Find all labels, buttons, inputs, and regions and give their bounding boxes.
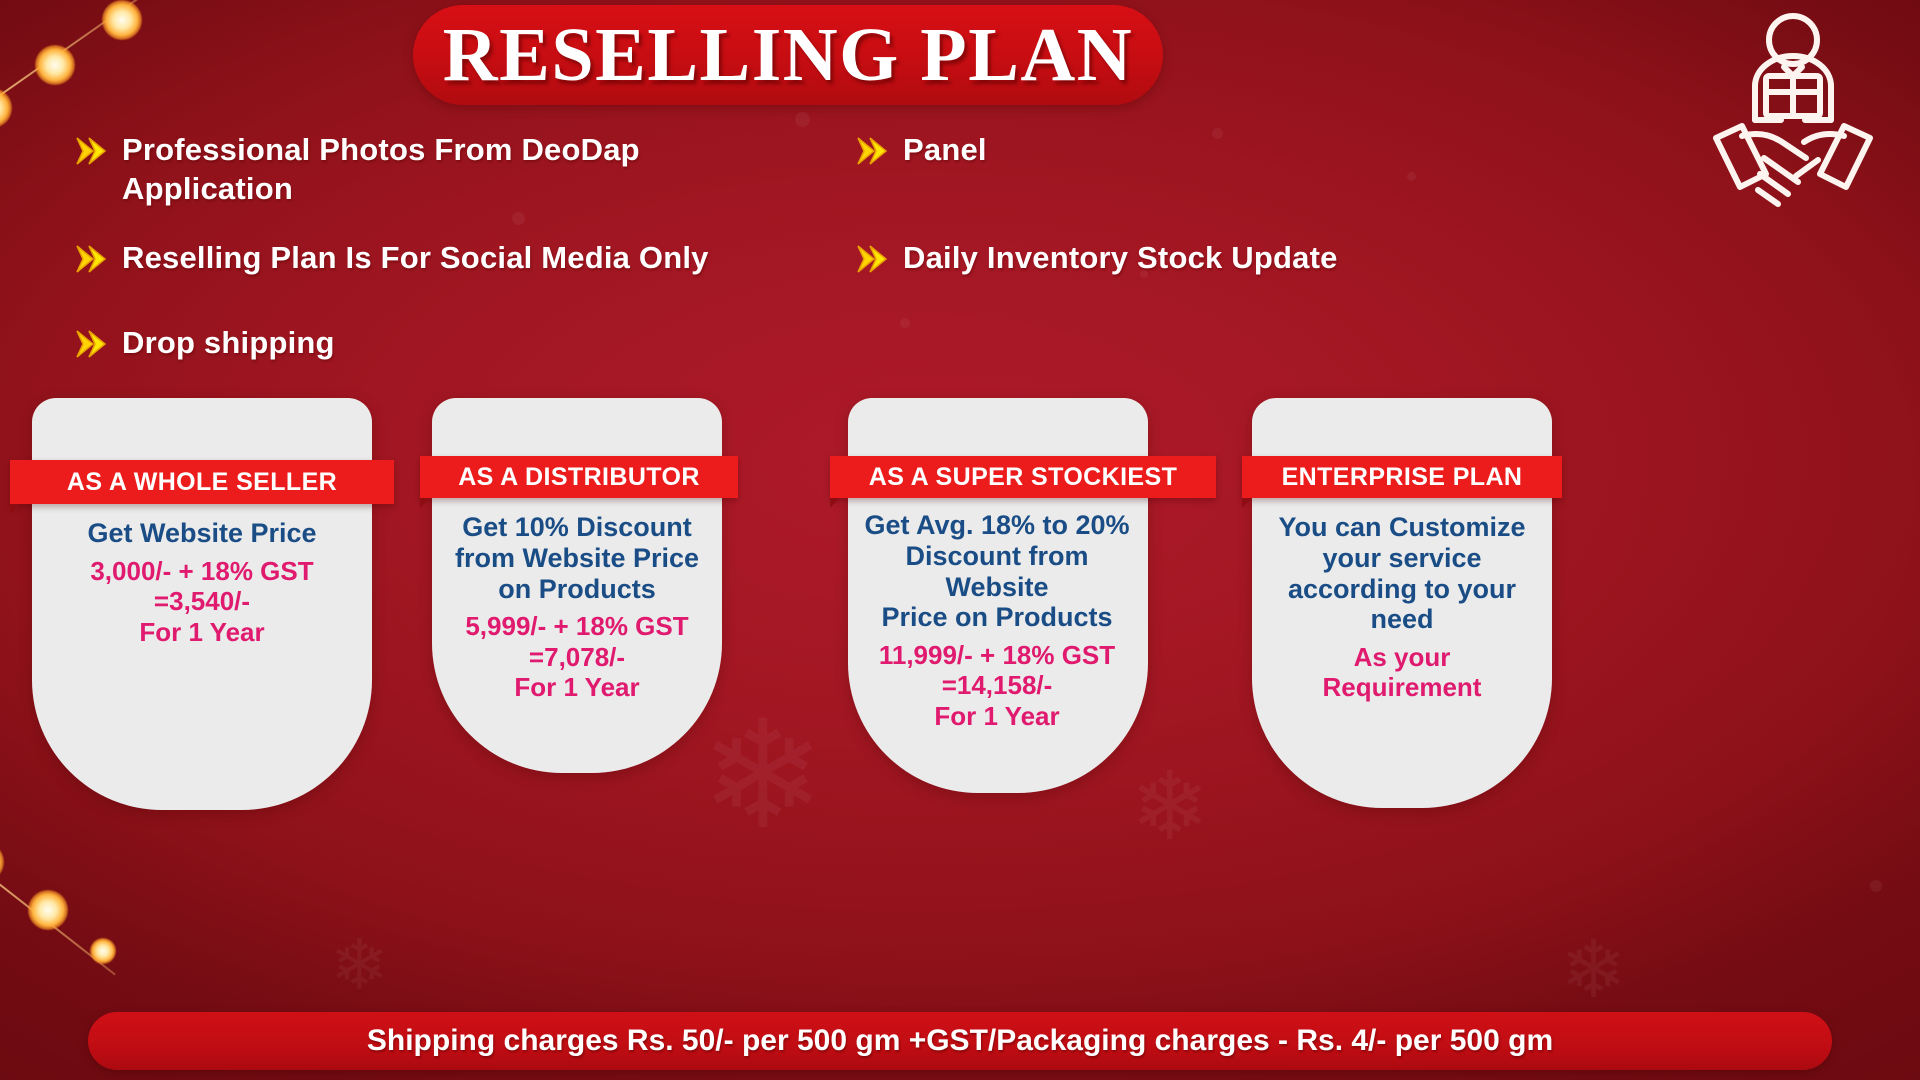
card-price-line: =7,078/- (432, 642, 722, 672)
card-heading-line: need (1252, 604, 1552, 635)
card-heading-line: Website (832, 572, 1162, 603)
card-heading-line: Get 10% Discount (432, 512, 722, 543)
card-content: You can Customize your service according… (1252, 512, 1552, 703)
bokeh-dot (900, 318, 910, 328)
card-price-line: 3,000/- + 18% GST (32, 556, 372, 586)
card-content: Get Website Price 3,000/- + 18% GST =3,5… (32, 518, 372, 647)
card-price-line: As your (1252, 642, 1552, 672)
card-price-line: For 1 Year (32, 617, 372, 647)
footer-text: Shipping charges Rs. 50/- per 500 gm +GS… (367, 1024, 1553, 1058)
card-heading-line: Discount from (832, 541, 1162, 572)
chevron-bullet-icon (74, 134, 108, 173)
card-ribbon: ENTERPRISE PLAN (1242, 456, 1562, 498)
card-content: Get Avg. 18% to 20% Discount from Websit… (832, 510, 1162, 731)
card-ribbon: AS A WHOLE SELLER (10, 460, 394, 504)
card-ribbon-label: ENTERPRISE PLAN (1282, 463, 1523, 492)
card-heading-line: on Products (432, 574, 722, 605)
card-ribbon-label: AS A SUPER STOCKIEST (869, 463, 1178, 492)
card-price-line: =14,158/- (832, 670, 1162, 700)
bokeh-dot (1212, 128, 1223, 139)
card-price-line: For 1 Year (832, 701, 1162, 731)
card-price-line: =3,540/- (32, 586, 372, 616)
feature-label: Daily Inventory Stock Update (903, 238, 1338, 277)
card-ribbon-label: AS A WHOLE SELLER (67, 468, 337, 497)
snowflake-icon: ❄ (330, 930, 389, 1000)
card-ribbon: AS A DISTRIBUTOR (420, 456, 738, 498)
chevron-bullet-icon (855, 242, 889, 281)
card-heading-line: your service (1252, 543, 1552, 574)
feature-label: Panel (903, 130, 987, 169)
card-price-line: For 1 Year (432, 672, 722, 702)
card-heading-line: Get Website Price (32, 518, 372, 549)
feature-item: Drop shipping (74, 323, 494, 366)
card-heading-line: from Website Price (432, 543, 722, 574)
footer-banner: Shipping charges Rs. 50/- per 500 gm +GS… (88, 1012, 1832, 1070)
feature-label: Drop shipping (122, 323, 335, 362)
card-price-line: 5,999/- + 18% GST (432, 611, 722, 641)
feature-label: Reselling Plan Is For Social Media Only (122, 238, 709, 277)
chevron-bullet-icon (74, 242, 108, 281)
feature-item: Panel (855, 130, 1155, 173)
feature-item: Professional Photos From DeoDap Applicat… (74, 130, 774, 208)
chevron-bullet-icon (855, 134, 889, 173)
card-heading-line: according to your (1252, 574, 1552, 605)
bokeh-dot (795, 112, 810, 127)
card-heading-line: You can Customize (1252, 512, 1552, 543)
card-ribbon-label: AS A DISTRIBUTOR (458, 463, 700, 492)
page-title: RESELLING PLAN (443, 12, 1133, 99)
bokeh-dot (1870, 880, 1882, 892)
page-title-banner: RESELLING PLAN (413, 5, 1163, 105)
bokeh-dot (1407, 172, 1416, 181)
feature-label: Professional Photos From DeoDap Applicat… (122, 130, 774, 208)
chevron-bullet-icon (74, 327, 108, 366)
card-price-line: Requirement (1252, 672, 1552, 702)
card-heading-line: Get Avg. 18% to 20% (832, 510, 1162, 541)
handshake-partnership-icon (1708, 8, 1878, 208)
snowflake-icon: ❄ (1560, 930, 1627, 1010)
card-price-line: 11,999/- + 18% GST (832, 640, 1162, 670)
bokeh-dot (512, 212, 525, 225)
feature-item: Daily Inventory Stock Update (855, 238, 1495, 281)
plan-cards: AS A WHOLE SELLER Get Website Price 3,00… (0, 398, 1920, 818)
card-ribbon: AS A SUPER STOCKIEST (830, 456, 1216, 498)
feature-item: Reselling Plan Is For Social Media Only (74, 238, 834, 281)
card-heading-line: Price on Products (832, 602, 1162, 633)
card-content: Get 10% Discount from Website Price on P… (432, 512, 722, 703)
